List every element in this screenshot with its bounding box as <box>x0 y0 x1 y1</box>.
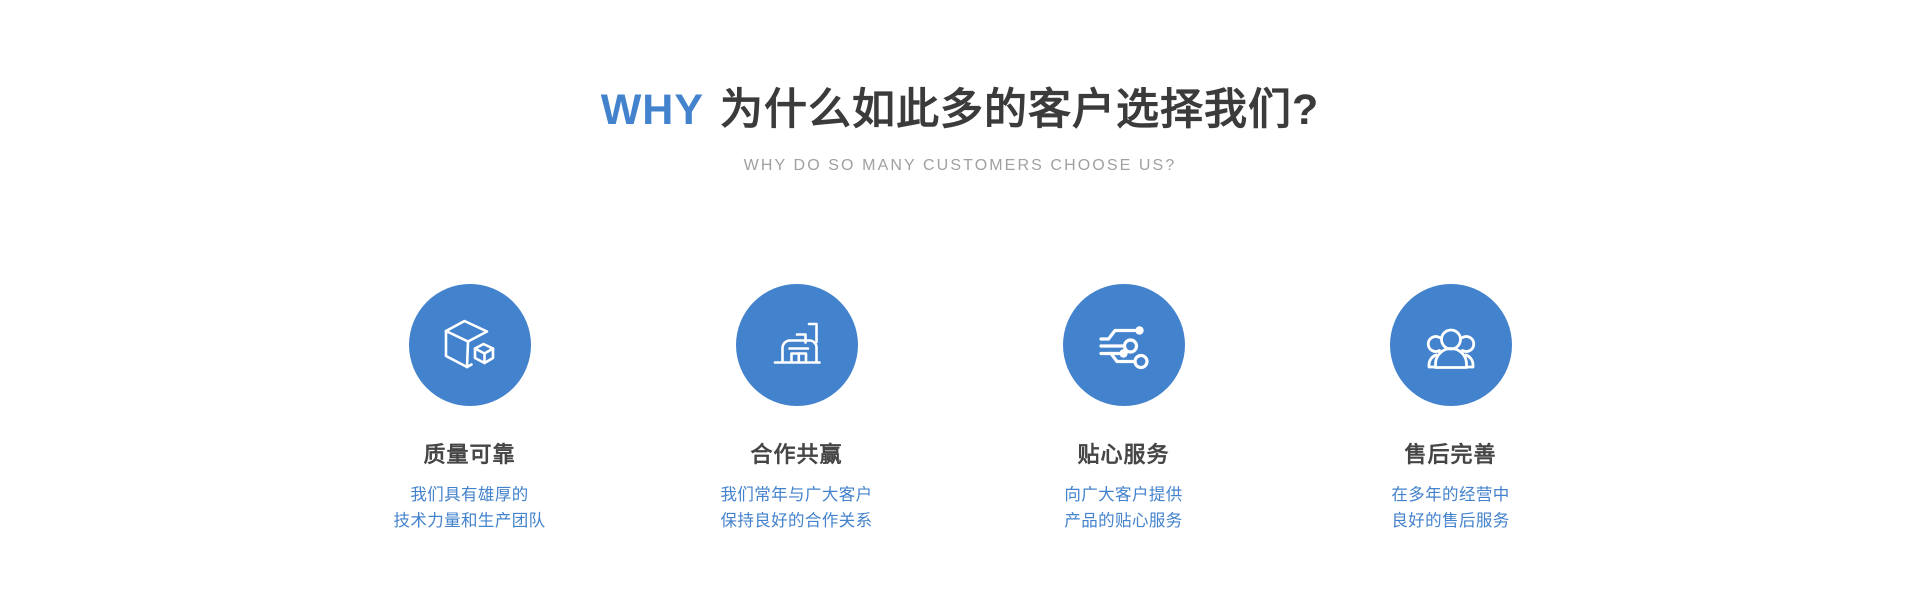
card-description-line-1: 在多年的经营中 <box>1391 483 1509 509</box>
card-description: 我们常年与广大客户 保持良好的合作关系 <box>720 483 872 534</box>
card-title: 售后完善 <box>1404 442 1496 468</box>
user-group-icon <box>1418 312 1484 378</box>
card-title: 质量可靠 <box>423 442 515 468</box>
feature-card-aftersales[interactable]: 售后完善 在多年的经营中 良好的售后服务 <box>1287 284 1614 535</box>
card-description-line-2: 良好的售后服务 <box>1391 509 1509 535</box>
card-description-line-2: 技术力量和生产团队 <box>393 509 545 535</box>
card-description-line-2: 保持良好的合作关系 <box>720 509 872 535</box>
feature-cards-row: 质量可靠 我们具有雄厚的 技术力量和生产团队 <box>0 284 1920 535</box>
circuit-nodes-icon <box>1091 312 1157 378</box>
card-description: 向广大客户提供 产品的贴心服务 <box>1064 483 1182 534</box>
card-description: 在多年的经营中 良好的售后服务 <box>1391 483 1509 534</box>
page-subtitle: WHY DO SO MANY CUSTOMERS CHOOSE US? <box>0 157 1920 175</box>
card-title: 合作共赢 <box>750 442 842 468</box>
card-description-line-1: 我们常年与广大客户 <box>720 483 872 509</box>
icon-circle-aftersales <box>1390 284 1512 406</box>
icon-circle-quality <box>409 284 531 406</box>
card-description-line-1: 我们具有雄厚的 <box>393 483 545 509</box>
icon-circle-service <box>1063 284 1185 406</box>
factory-icon <box>764 312 830 378</box>
title-chinese: 为什么如此多的客户选择我们? <box>720 86 1319 134</box>
feature-card-quality[interactable]: 质量可靠 我们具有雄厚的 技术力量和生产团队 <box>306 284 633 535</box>
why-choose-us-section: WHY为什么如此多的客户选择我们? WHY DO SO MANY CUSTOME… <box>0 0 1920 615</box>
heading-block: WHY为什么如此多的客户选择我们? WHY DO SO MANY CUSTOME… <box>0 86 1920 175</box>
package-box-icon <box>437 312 503 378</box>
title-why-word: WHY <box>601 86 704 134</box>
page-title: WHY为什么如此多的客户选择我们? <box>0 86 1920 135</box>
feature-card-service[interactable]: 贴心服务 向广大客户提供 产品的贴心服务 <box>960 284 1287 535</box>
card-description: 我们具有雄厚的 技术力量和生产团队 <box>393 483 545 534</box>
card-description-line-1: 向广大客户提供 <box>1064 483 1182 509</box>
icon-circle-cooperation <box>736 284 858 406</box>
card-description-line-2: 产品的贴心服务 <box>1064 509 1182 535</box>
card-title: 贴心服务 <box>1077 442 1169 468</box>
feature-card-cooperation[interactable]: 合作共赢 我们常年与广大客户 保持良好的合作关系 <box>633 284 960 535</box>
